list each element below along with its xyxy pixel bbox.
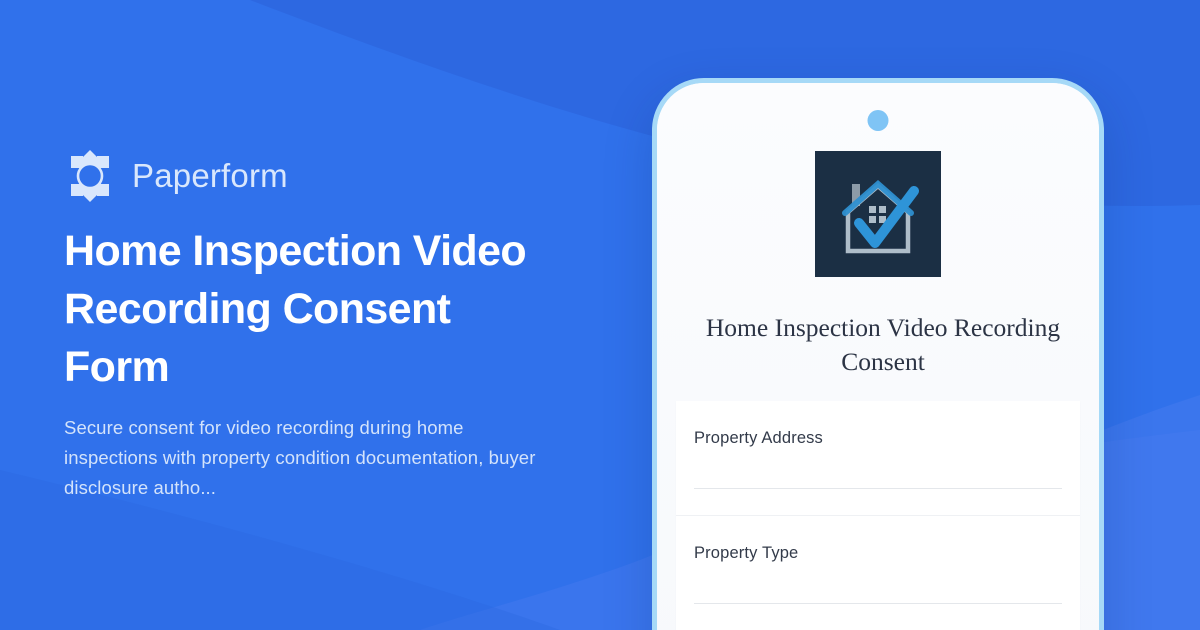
- hero-column: Paperform Home Inspection Video Recordin…: [64, 0, 584, 630]
- page-subtitle: Secure consent for video recording durin…: [64, 413, 554, 503]
- promo-card: Paperform Home Inspection Video Recordin…: [0, 0, 1200, 630]
- form-field-list: Property Address Property Type: [676, 401, 1080, 630]
- property-address-input[interactable]: [694, 488, 1062, 489]
- page-title: Home Inspection Video Recording Consent …: [64, 222, 534, 396]
- paperform-flower-mark-icon: [64, 146, 116, 206]
- form-heading: Home Inspection Video Recording Consent: [679, 311, 1087, 379]
- brand-lockup: Paperform: [64, 146, 288, 206]
- field-label: Property Type: [694, 542, 1062, 564]
- phone-mockup: Home Inspection Video Recording Consent …: [652, 78, 1104, 630]
- form-field-property-type[interactable]: Property Type: [676, 516, 1080, 630]
- property-type-input[interactable]: [694, 603, 1062, 604]
- phone-screen: Home Inspection Video Recording Consent …: [657, 83, 1099, 630]
- form-field-property-address[interactable]: Property Address: [676, 401, 1080, 516]
- field-label: Property Address: [694, 427, 1062, 449]
- house-with-checkmark-icon: [815, 151, 941, 277]
- front-camera-dot-icon: [868, 110, 889, 131]
- brand-name: Paperform: [132, 157, 288, 195]
